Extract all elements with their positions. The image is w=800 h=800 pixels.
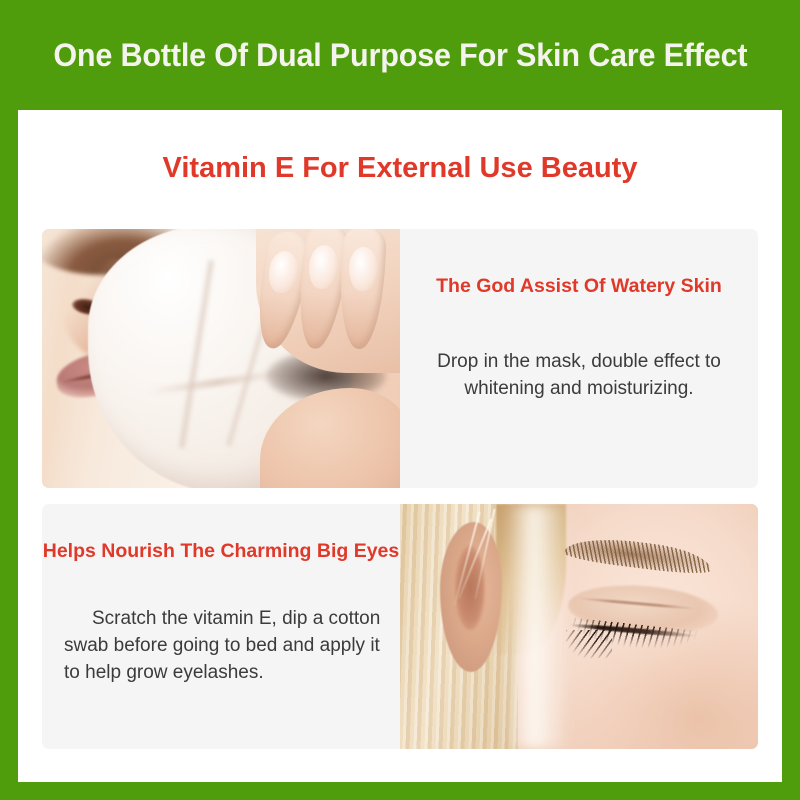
feature-card-watery-skin: The God Assist Of Watery Skin Drop in th…	[42, 229, 758, 488]
closed-eye-lashes-photo	[400, 504, 758, 749]
header-title: One Bottle Of Dual Purpose For Skin Care…	[53, 39, 747, 71]
card-heading-big-eyes: Helps Nourish The Charming Big Eyes	[42, 542, 400, 562]
card-heading-watery-skin: The God Assist Of Watery Skin	[400, 277, 758, 297]
card-text-column: The God Assist Of Watery Skin Drop in th…	[400, 229, 758, 488]
header-band: One Bottle Of Dual Purpose For Skin Care…	[0, 0, 800, 110]
promo-poster: One Bottle Of Dual Purpose For Skin Care…	[0, 0, 800, 800]
feature-card-big-eyes: Helps Nourish The Charming Big Eyes Scra…	[42, 504, 758, 749]
content-page: Vitamin E For External Use Beauty	[18, 110, 782, 782]
sheet-mask-face-photo	[42, 229, 400, 488]
page-subtitle: Vitamin E For External Use Beauty	[18, 154, 782, 183]
card-body-big-eyes: Scratch the vitamin E, dip a cotton swab…	[64, 605, 386, 686]
card-text-column: Helps Nourish The Charming Big Eyes Scra…	[42, 504, 400, 749]
card-body-watery-skin: Drop in the mask, double effect to white…	[418, 348, 740, 402]
